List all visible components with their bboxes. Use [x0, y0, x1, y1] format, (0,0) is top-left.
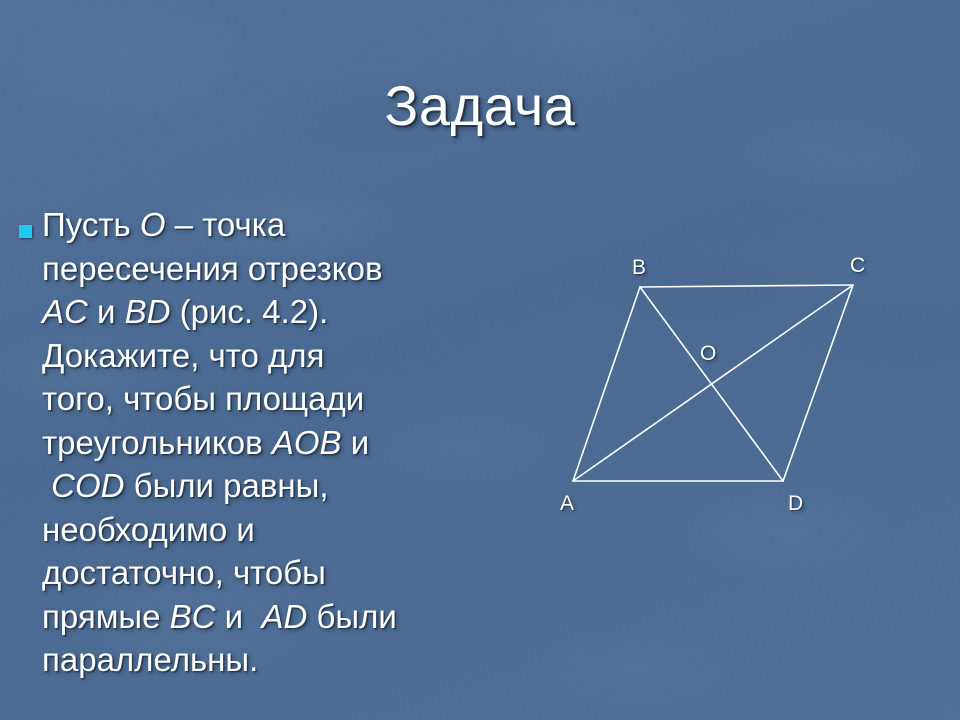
body-run: были	[307, 598, 396, 635]
body-line: прямые BC и AD были	[42, 595, 430, 639]
figure-edges	[573, 285, 853, 481]
body-line: достаточно, чтобы	[42, 551, 430, 595]
body-run: параллельны.	[42, 641, 258, 678]
body-run: пересечения отрезков	[42, 250, 382, 287]
body-run: и	[342, 424, 370, 461]
geometry-label-inline: BD	[125, 293, 171, 330]
figure-edge-BD	[640, 287, 783, 481]
square-bullet-icon	[19, 225, 32, 238]
body-run: того, чтобы площади	[42, 380, 364, 417]
vertex-label-D: D	[788, 492, 803, 516]
body-run: были равны,	[125, 467, 329, 504]
figure-edge-CD	[783, 285, 853, 481]
body-line: AC и BD (рис. 4.2).	[42, 290, 430, 334]
body-line: Пусть O – точка	[42, 203, 430, 247]
slide-canvas: Задача Пусть O – точкапересечения отрезк…	[0, 0, 960, 720]
body-run: – точка	[166, 206, 286, 243]
vertex-label-C: C	[850, 254, 865, 278]
body-run: достаточно, чтобы	[42, 554, 326, 591]
body-run: и	[216, 598, 262, 635]
body-run: прямые	[42, 598, 170, 635]
body-line: Докажите, что для	[42, 334, 430, 378]
body-run: необходимо и	[42, 511, 255, 548]
body-line: COD были равны,	[42, 464, 430, 508]
geometry-figure: BCADO	[520, 230, 940, 550]
body-run	[42, 467, 51, 504]
body-line: пересечения отрезков	[42, 247, 430, 291]
bullet-body-block: Пусть O – точкапересечения отрезковAC и …	[10, 203, 430, 682]
body-line: необходимо и	[42, 508, 430, 552]
body-line: того, чтобы площади	[42, 377, 430, 421]
geometry-label-inline: AOB	[272, 424, 342, 461]
vertex-label-A: A	[560, 492, 574, 516]
body-line: параллельны.	[42, 638, 430, 682]
geometry-label-inline: BC	[170, 598, 216, 635]
vertex-label-B: B	[632, 256, 646, 280]
figure-edge-BC	[640, 285, 853, 287]
vertex-label-O: O	[700, 342, 716, 366]
geometry-label-inline: AC	[42, 293, 88, 330]
figure-edge-AC	[573, 285, 853, 481]
geometry-label-inline: O	[140, 206, 166, 243]
page-title: Задача	[0, 78, 960, 134]
geometry-label-inline: COD	[51, 467, 124, 504]
parallelogram-svg	[520, 230, 940, 550]
body-run: и	[88, 293, 125, 330]
body-text: Пусть O – точкапересечения отрезковAC и …	[42, 203, 430, 682]
body-run: Докажите, что для	[42, 337, 324, 374]
body-line: треугольников AOB и	[42, 421, 430, 465]
body-run: Пусть	[42, 206, 140, 243]
body-run: треугольников	[42, 424, 272, 461]
geometry-label-inline: AD	[261, 598, 307, 635]
figure-edge-AB	[573, 287, 640, 481]
body-run: (рис. 4.2).	[170, 293, 328, 330]
